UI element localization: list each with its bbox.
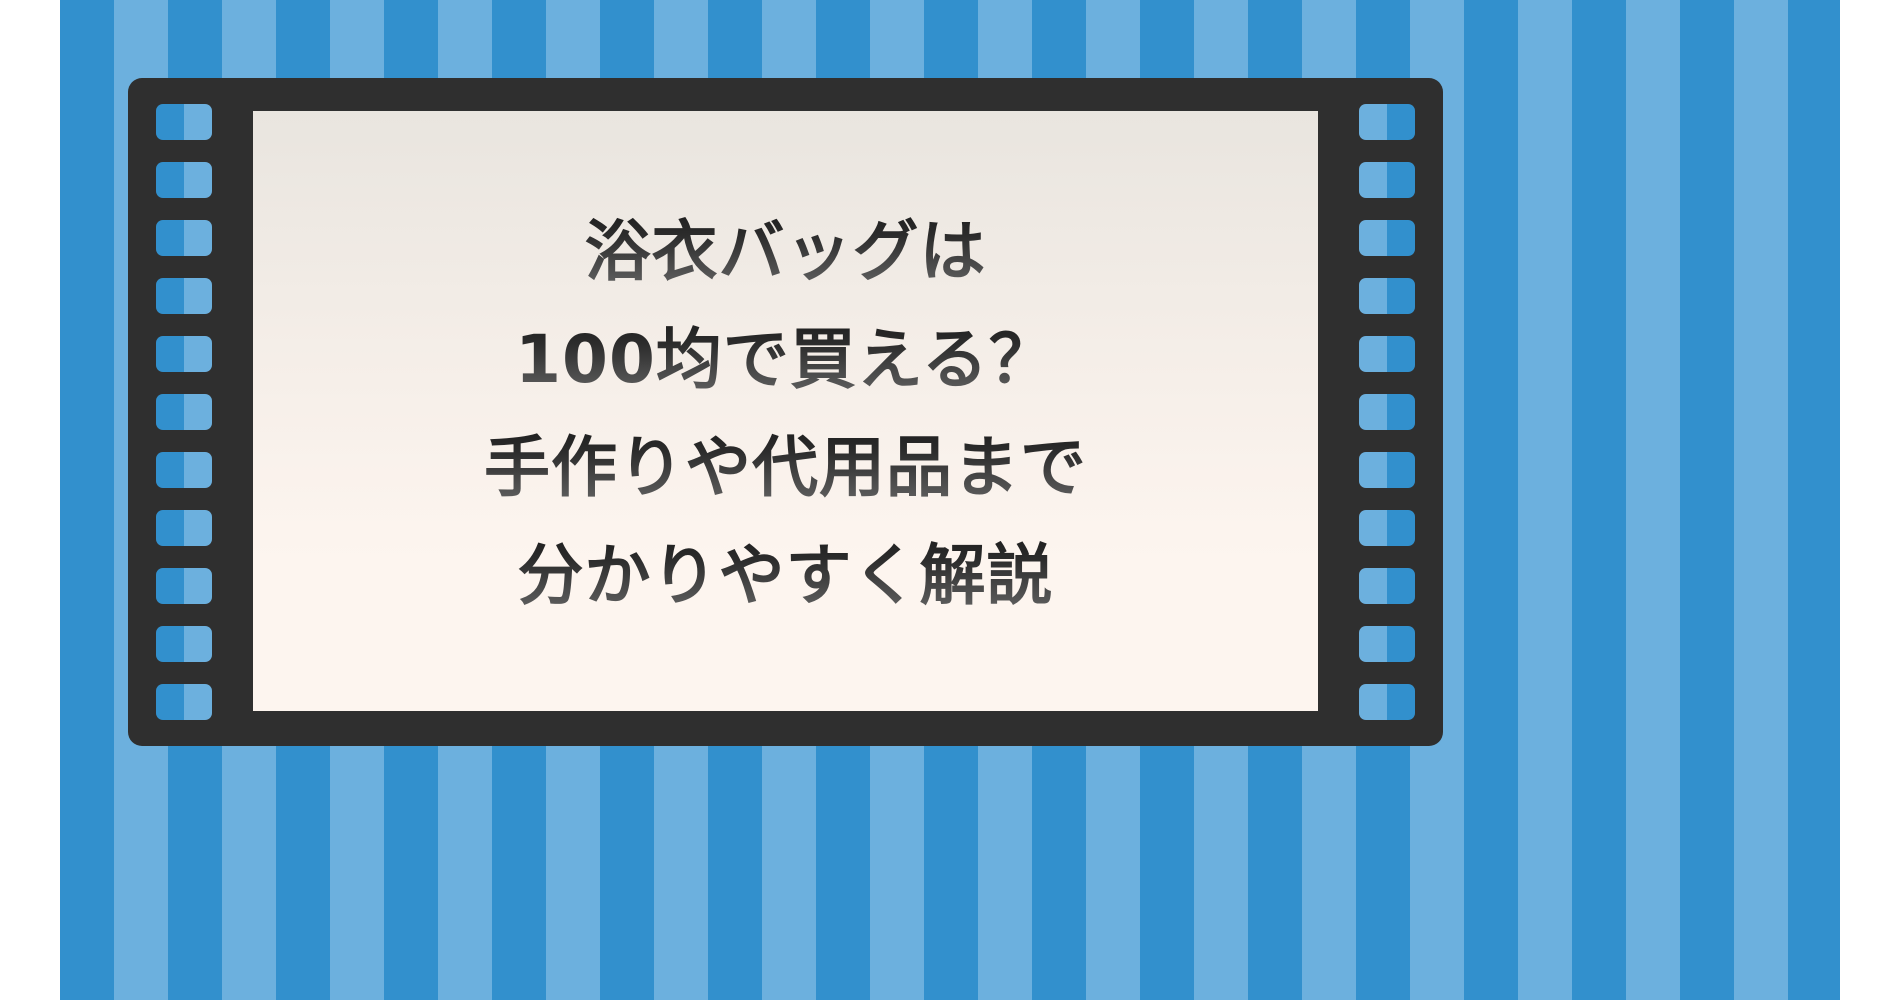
film-perforation — [1359, 510, 1415, 546]
film-perforation — [156, 162, 212, 198]
title-line-1: 浴衣バッグは — [253, 198, 1318, 306]
title-line-3: 手作りや代用品まで — [253, 414, 1318, 522]
film-perforation — [1359, 220, 1415, 256]
film-perforation — [1359, 104, 1415, 140]
film-perforation — [156, 336, 212, 372]
film-perforation — [156, 278, 212, 314]
film-perforations-right — [1359, 104, 1415, 720]
film-perforation — [1359, 684, 1415, 720]
film-perforation — [1359, 394, 1415, 430]
inner-content-panel: 浴衣バッグは 100均で買える？ 手作りや代用品まで 分かりやすく解説 — [253, 111, 1318, 711]
film-perforation — [156, 510, 212, 546]
film-perforation — [156, 104, 212, 140]
film-strip-frame: 浴衣バッグは 100均で買える？ 手作りや代用品まで 分かりやすく解説 — [128, 78, 1443, 746]
film-perforation — [156, 394, 212, 430]
title-line-2: 100均で買える？ — [253, 306, 1318, 414]
page-title: 浴衣バッグは 100均で買える？ 手作りや代用品まで 分かりやすく解説 — [253, 192, 1318, 630]
film-perforation — [1359, 452, 1415, 488]
film-perforation — [156, 568, 212, 604]
title-line-4: 分かりやすく解説 — [253, 522, 1318, 630]
film-perforation — [1359, 162, 1415, 198]
film-perforations-left — [156, 104, 212, 720]
film-perforation — [156, 452, 212, 488]
film-perforation — [1359, 568, 1415, 604]
film-perforation — [156, 684, 212, 720]
film-perforation — [1359, 278, 1415, 314]
film-perforation — [156, 626, 212, 662]
thumbnail-canvas: 浴衣バッグは 100均で買える？ 手作りや代用品まで 分かりやすく解説 — [0, 0, 1900, 1000]
film-perforation — [1359, 336, 1415, 372]
film-perforation — [1359, 626, 1415, 662]
film-perforation — [156, 220, 212, 256]
